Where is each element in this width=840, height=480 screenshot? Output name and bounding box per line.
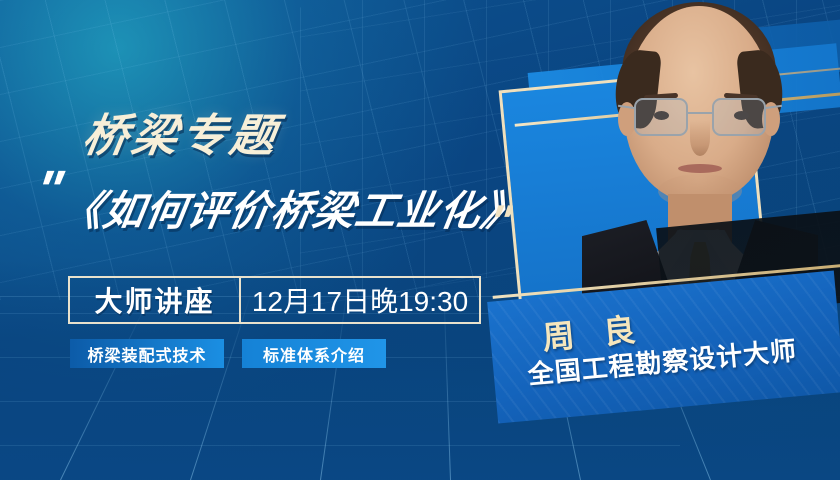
headline-block: 桥梁专题 " 《如何评价桥梁工业化》 " 大师讲座 12月17日晚19:30 桥…	[0, 0, 540, 480]
tag-list: 桥梁装配式技术 标准体系介绍	[70, 339, 386, 368]
lecture-date-cell: 12月17日晚19:30	[239, 278, 479, 322]
portrait-mouth	[678, 164, 722, 173]
lecture-info-bar: 大师讲座 12月17日晚19:30	[68, 276, 481, 324]
tag-chip[interactable]: 标准体系介绍	[242, 339, 386, 368]
portrait-nose	[690, 120, 710, 156]
poster-canvas: 桥梁专题 " 《如何评价桥梁工业化》 " 大师讲座 12月17日晚19:30 桥…	[0, 0, 840, 480]
page-subtitle: 《如何评价桥梁工业化》	[57, 177, 529, 237]
glasses-lens-left	[634, 98, 688, 136]
lecture-label-cell: 大师讲座	[70, 278, 239, 322]
quote-open-mark: "	[33, 172, 61, 210]
page-title: 桥梁专题	[79, 99, 285, 164]
glasses-bridge	[688, 112, 712, 114]
speaker-name: 周 良	[540, 304, 647, 359]
lecture-label: 大师讲座	[94, 280, 214, 320]
speaker-composition: 周 良 全国工程勘察设计大师	[470, 0, 840, 480]
speaker-title: 全国工程勘察设计大师	[526, 330, 798, 391]
glasses-lens-right	[712, 98, 766, 136]
lecture-date: 12月17日晚19:30	[252, 280, 468, 320]
tag-chip[interactable]: 桥梁装配式技术	[70, 339, 224, 368]
